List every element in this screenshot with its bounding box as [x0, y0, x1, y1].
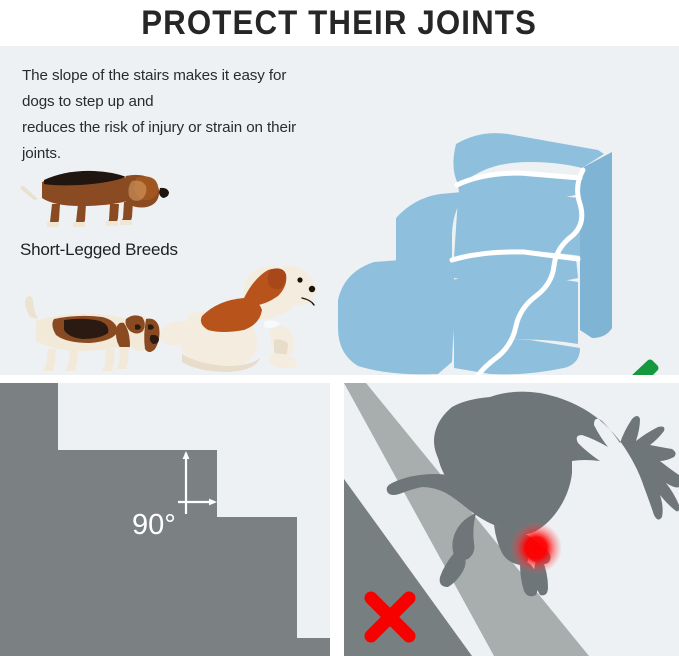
red-x-icon	[361, 588, 419, 646]
intro-line-1: The slope of the stairs makes it easy fo…	[22, 63, 322, 115]
header-bar: PROTECT THEIR JOINTS	[0, 0, 679, 46]
pet-stairs-illustration	[330, 132, 640, 375]
green-check-icon	[589, 359, 661, 375]
basset-hound-icon	[14, 289, 164, 375]
intro-paragraph: The slope of the stairs makes it easy fo…	[22, 63, 322, 167]
pain-spot-marker	[510, 522, 562, 574]
caption-short-legged-breeds: Short-Legged Breeds	[20, 240, 178, 260]
infographic-page: PROTECT THEIR JOINTS The slope of the st…	[0, 0, 679, 656]
top-panel: The slope of the stairs makes it easy fo…	[0, 46, 679, 375]
bottom-right-panel	[344, 383, 679, 656]
dachshund-icon	[14, 154, 179, 234]
jack-russell-icon	[152, 258, 327, 375]
page-title: PROTECT THEIR JOINTS	[142, 6, 538, 40]
angle-label: 90°	[132, 511, 176, 540]
